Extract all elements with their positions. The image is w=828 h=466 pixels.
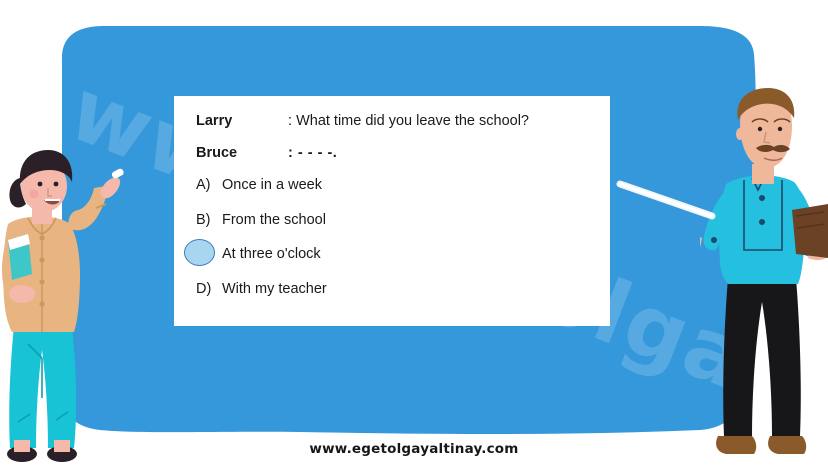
option-text: From the school xyxy=(222,211,326,230)
option-b[interactable]: B) From the school xyxy=(196,211,588,230)
dialogue-line: Bruce : - - - -. xyxy=(196,144,588,163)
option-text: At three o'clock xyxy=(222,245,321,264)
pointer-stick-highlight xyxy=(620,184,712,216)
speaker-name: Bruce xyxy=(196,144,288,163)
option-d[interactable]: D) With my teacher xyxy=(196,280,588,299)
man-ear xyxy=(736,128,744,140)
option-c[interactable]: C) At three o'clock xyxy=(196,245,588,264)
man-button xyxy=(759,219,765,225)
option-letter: A) xyxy=(196,176,222,195)
dialogue-line: Larry : What time did you leave the scho… xyxy=(196,112,588,131)
woman-button xyxy=(39,257,44,262)
woman-blush xyxy=(30,190,39,199)
dialogue-separator: : xyxy=(288,113,292,129)
woman-hand-left xyxy=(9,285,35,303)
man-cuff-button xyxy=(711,237,717,243)
chalk-icon xyxy=(111,168,125,180)
woman-eye-left xyxy=(38,182,43,187)
dialogue-separator: : xyxy=(288,145,293,161)
man-eye xyxy=(758,127,762,131)
option-a[interactable]: A) Once in a week xyxy=(196,176,588,195)
dialogue-text: - - - -. xyxy=(298,145,337,161)
speaker-line: : What time did you leave the school? xyxy=(288,112,529,131)
woman-eye-right xyxy=(54,182,59,187)
man-button xyxy=(759,195,765,201)
dialogue-text: What time did you leave the school? xyxy=(296,113,529,129)
man-hand-left xyxy=(700,235,702,248)
question-card: Larry : What time did you leave the scho… xyxy=(174,96,610,326)
woman-button xyxy=(39,301,44,306)
option-letter: B) xyxy=(196,211,222,230)
female-teacher-illustration xyxy=(0,148,152,466)
speaker-line: : - - - -. xyxy=(288,144,337,163)
woman-button xyxy=(39,279,44,284)
option-text: Once in a week xyxy=(222,176,322,195)
slide-canvas: www.egetolgayaltinay.com Larry : What ti… xyxy=(0,0,828,466)
man-eye xyxy=(778,127,782,131)
man-trousers xyxy=(723,278,801,436)
woman-button xyxy=(39,235,44,240)
selected-answer-circle-icon xyxy=(184,239,215,266)
pointer-stick-icon xyxy=(616,176,726,224)
speaker-name: Larry xyxy=(196,112,288,131)
man-shirt xyxy=(719,175,804,284)
option-text: With my teacher xyxy=(222,280,327,299)
answer-options: A) Once in a week B) From the school C) … xyxy=(196,176,588,299)
footer-url: www.egetolgayaltinay.com xyxy=(0,441,828,457)
male-teacher-illustration xyxy=(700,88,828,466)
woman-hand-right xyxy=(100,178,120,199)
option-letter: D) xyxy=(196,280,222,299)
